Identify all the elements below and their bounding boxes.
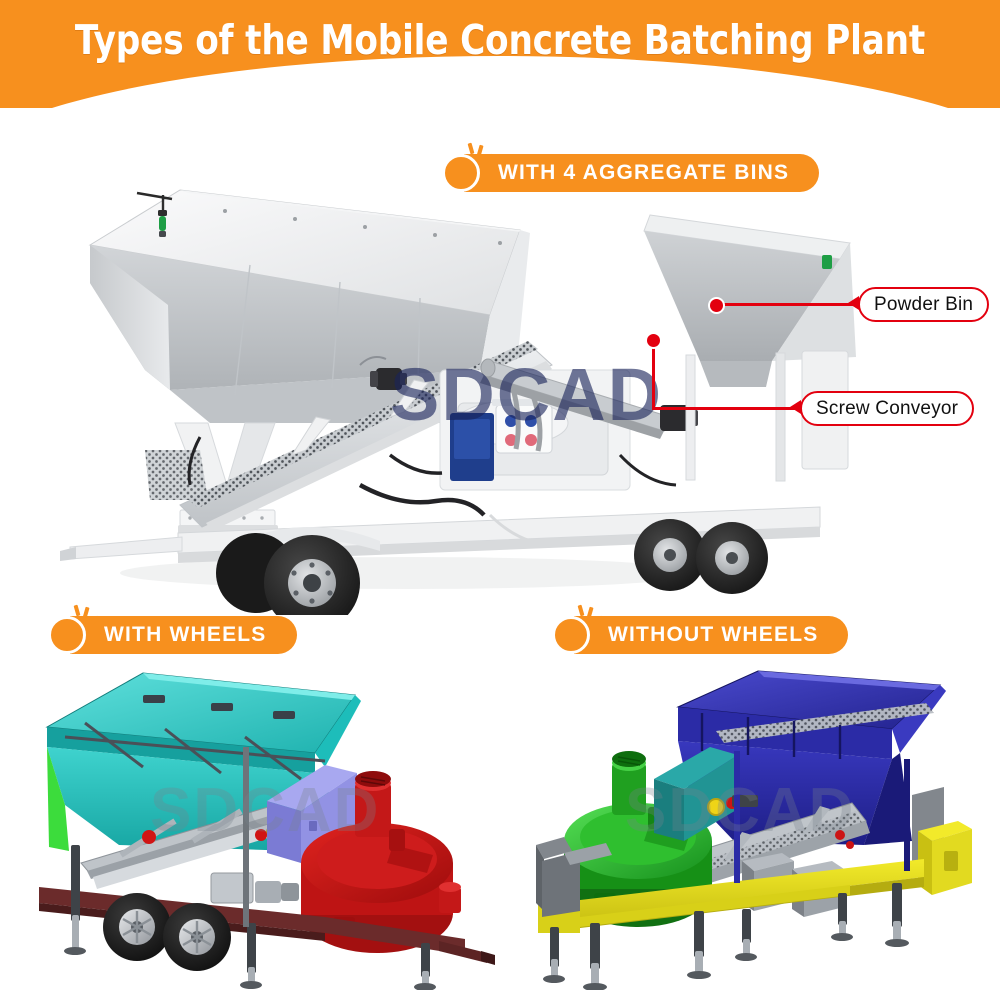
badge-bar: WITHOUT WHEELS xyxy=(574,616,848,654)
badge-circle-icon xyxy=(442,154,480,192)
badge-bar: WITH 4 AGGREGATE BINS xyxy=(464,154,819,192)
batching-plant-photo-illustration xyxy=(60,155,860,615)
screw-conveyor-leader-line-horizontal xyxy=(652,407,800,410)
main-product-photo xyxy=(60,155,860,615)
badge-label: WITH WHEELS xyxy=(104,623,267,647)
page-header: Types of the Mobile Concrete Batching Pl… xyxy=(0,0,1000,108)
powder-bin-leader-line xyxy=(716,303,858,306)
powder-bin-anchor-dot xyxy=(708,297,725,314)
badge-label: WITH 4 AGGREGATE BINS xyxy=(498,161,789,185)
badge-bar: WITH WHEELS xyxy=(70,616,297,654)
screw-conveyor-leader-line-vertical xyxy=(652,340,655,410)
badge-circle-icon xyxy=(48,616,86,654)
with-wheels-cad-illustration xyxy=(25,655,495,990)
render-with-wheels xyxy=(25,655,495,990)
screw-conveyor-anchor-dot xyxy=(645,332,662,349)
infographic-page: Types of the Mobile Concrete Batching Pl… xyxy=(0,0,1000,1000)
callout-screw-conveyor[interactable]: Screw Conveyor xyxy=(800,391,974,426)
callout-screw-conveyor-label: Screw Conveyor xyxy=(816,398,958,420)
callout-powder-bin[interactable]: Powder Bin xyxy=(858,287,989,322)
badge-circle-icon xyxy=(552,616,590,654)
callout-powder-bin-label: Powder Bin xyxy=(874,294,973,316)
sparkle-icon xyxy=(468,143,475,155)
render-without-wheels xyxy=(520,655,995,990)
badge-label: WITHOUT WHEELS xyxy=(608,623,818,647)
without-wheels-cad-illustration xyxy=(520,655,995,990)
